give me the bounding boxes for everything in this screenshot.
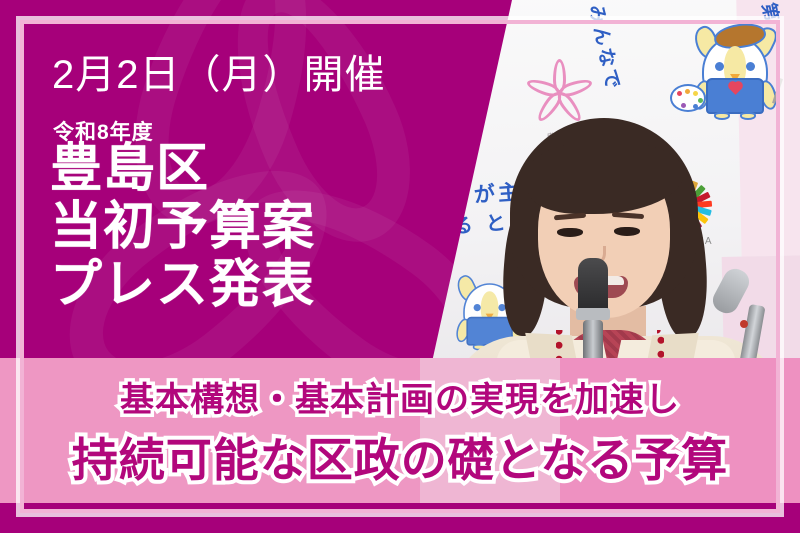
- poster-title-line-2: 当初予算案: [50, 198, 315, 256]
- poster-title: 豊島区 当初予算案 プレス発表: [50, 140, 315, 315]
- poster-title-line-3: プレス発表: [50, 256, 315, 314]
- press-release-poster: 豊島 ど"が主役 くる とし みんなで 第: [0, 0, 800, 533]
- event-date: 2月2日（月）開催: [52, 42, 386, 100]
- footer-bar: [0, 503, 800, 533]
- banner-headline-2: 持続可能な区政の礎となる予算: [0, 424, 800, 490]
- owl-mascot-icon: [688, 22, 784, 126]
- poster-title-line-1: 豊島区: [50, 140, 315, 198]
- banner-headline-1: 基本構想・基本計画の実現を加速し: [0, 372, 800, 421]
- palette-icon: [670, 84, 706, 112]
